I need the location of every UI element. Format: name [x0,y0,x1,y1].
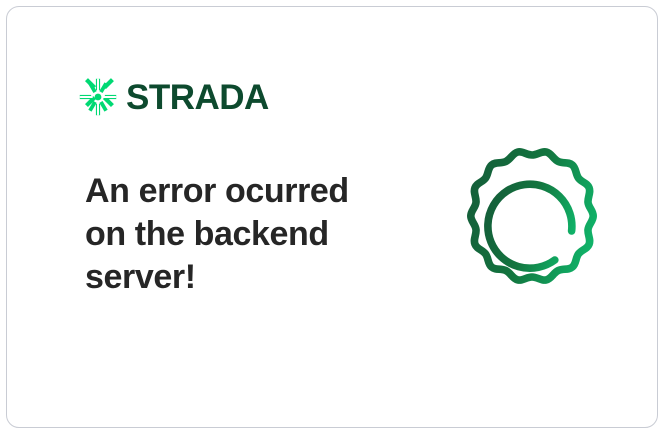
brand-lockup: STRADA [79,75,269,119]
screen: STRADA An error ocurred on the backend s… [0,0,666,436]
gear-illustration [451,144,613,306]
error-card: STRADA An error ocurred on the backend s… [6,6,658,428]
error-message: An error ocurred on the backend server! [85,170,385,299]
strada-asterisk-icon [79,78,117,116]
brand-wordmark: STRADA [126,80,269,115]
gear-icon [451,144,613,306]
